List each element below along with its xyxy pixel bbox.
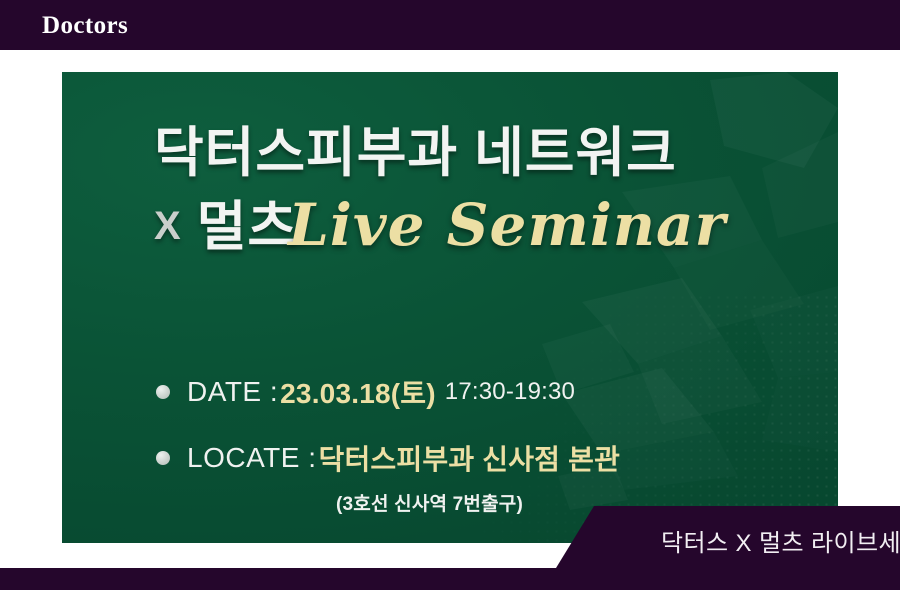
info-row-date: DATE : 23.03.18(토) 17:30-19:30 [156, 372, 776, 412]
date-value: 23.03.18(토) [280, 372, 436, 412]
poster-info-block: DATE : 23.03.18(토) 17:30-19:30 LOCATE : … [156, 372, 776, 516]
headline-line-1: 닥터스피부과 네트워크 [154, 122, 814, 184]
poster-panel: 닥터스피부과 네트워크 X멀츠Live Seminar DATE : 23.03… [62, 72, 838, 543]
date-time-range: 17:30-19:30 [445, 378, 575, 406]
bullet-dot-icon [156, 385, 170, 399]
headline-merz: 멀츠 [197, 197, 298, 257]
locate-label: LOCATE : [187, 442, 317, 474]
caption-text: 닥터스 X 멀츠 라이브세미나 [661, 523, 900, 558]
bottom-brand-bar [0, 568, 900, 590]
headline-live-seminar: Live Seminar [288, 191, 726, 259]
date-label: DATE : [187, 376, 278, 408]
poster-page: Doctors [0, 0, 900, 590]
info-row-locate: LOCATE : 닥터스피부과 신사점 본관 [156, 438, 776, 478]
top-brand-bar: Doctors [0, 0, 900, 50]
caption-plate: 닥터스 X 멀츠 라이브세미나 [556, 506, 900, 568]
bullet-dot-icon [156, 451, 170, 465]
locate-value: 닥터스피부과 신사점 본관 [319, 438, 621, 478]
brand-logo: Doctors [42, 12, 128, 40]
headline-line-2: X멀츠Live Seminar [154, 192, 814, 274]
headline-x-mark: X [154, 204, 183, 248]
poster-headline: 닥터스피부과 네트워크 X멀츠Live Seminar [154, 122, 814, 274]
